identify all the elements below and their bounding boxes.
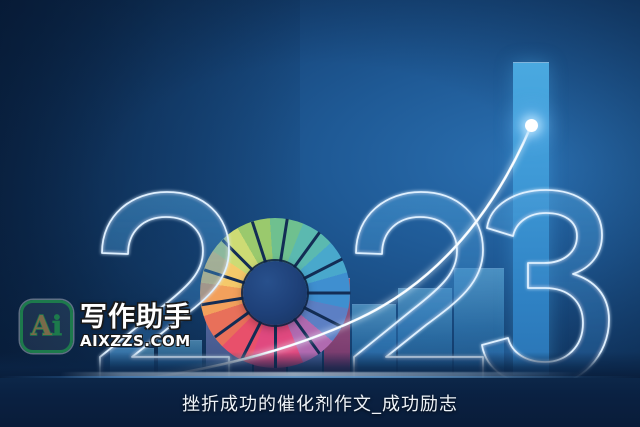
logo-letter-a: A [31,313,52,340]
ai-logo-icon: Ai [20,300,73,353]
watermark-text: 写作助手 AIXZZS.COM [80,304,192,349]
ai-logo-glyph: Ai [23,303,70,350]
watermark: Ai 写作助手 AIXZZS.COM [20,300,192,353]
logo-letter-i: i [52,313,62,340]
curve-endpoint-dot [525,119,538,132]
watermark-brand-cn: 写作助手 [80,304,192,331]
illustration-canvas: Ai 写作助手 AIXZZS.COM 挫折成功的催化剂作文_成功励志 [0,0,640,427]
caption-text: 挫折成功的催化剂作文_成功励志 [0,390,640,416]
watermark-brand-url: AIXZZS.COM [80,334,192,349]
